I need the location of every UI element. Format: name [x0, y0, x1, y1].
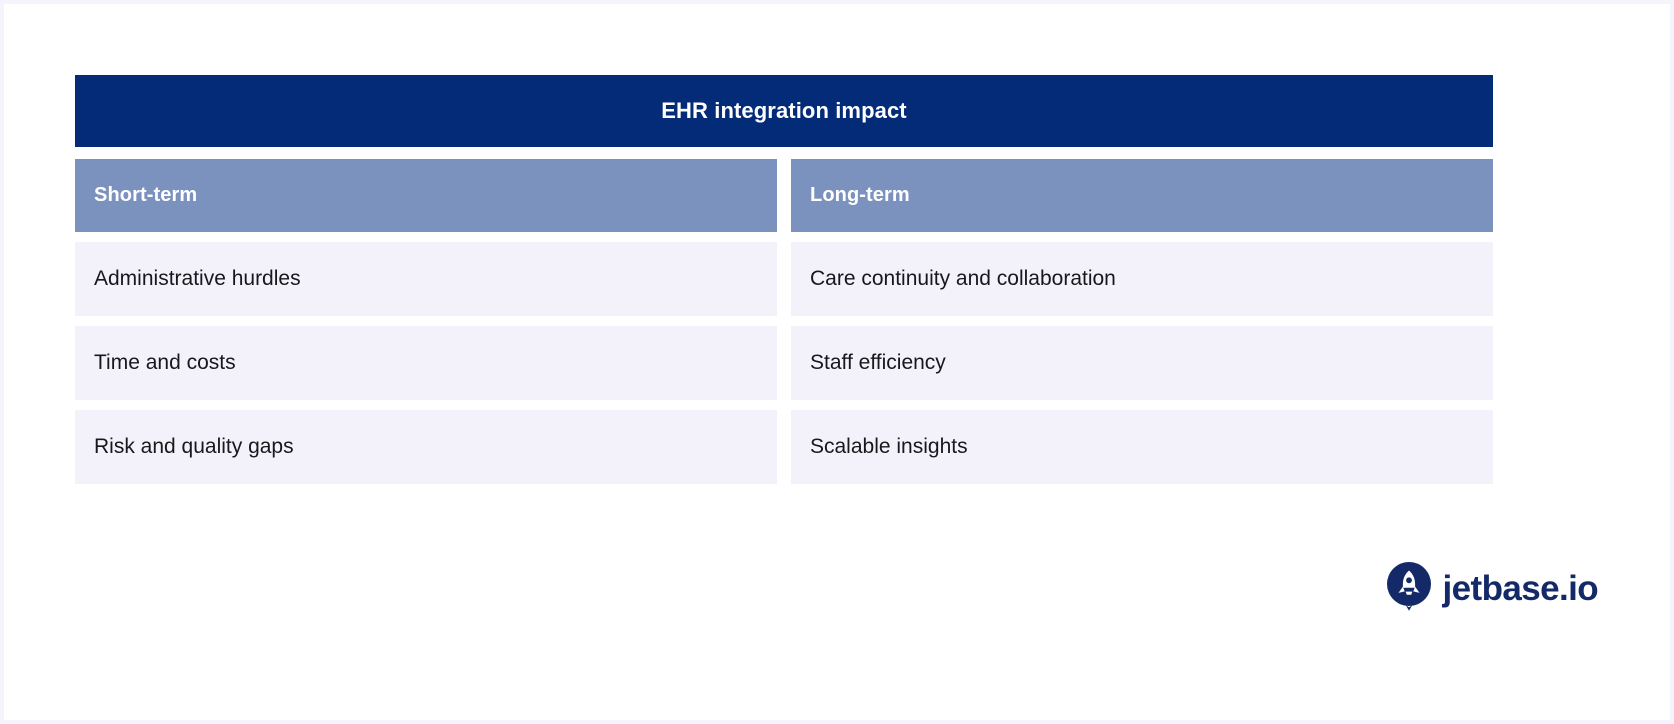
rocket-icon	[1386, 562, 1432, 614]
table-row: Time and costs	[75, 326, 777, 400]
cell-label: Scalable insights	[810, 435, 968, 459]
table-row: Risk and quality gaps	[75, 410, 777, 484]
table-title: EHR integration impact	[661, 98, 906, 124]
cell-label: Time and costs	[94, 351, 236, 375]
cell-label: Care continuity and collaboration	[810, 267, 1116, 291]
cell-label: Risk and quality gaps	[94, 435, 294, 459]
page-canvas: EHR integration impact Short-term Admini…	[4, 4, 1670, 720]
column-header-label: Short-term	[94, 184, 197, 207]
column-header-long-term: Long-term	[791, 159, 1493, 232]
brand-logo: jetbase.io	[1386, 562, 1598, 614]
column-long-term: Long-term Care continuity and collaborat…	[791, 159, 1493, 484]
table-columns: Short-term Administrative hurdles Time a…	[75, 159, 1493, 484]
cell-label: Administrative hurdles	[94, 267, 301, 291]
column-header-short-term: Short-term	[75, 159, 777, 232]
table-row: Care continuity and collaboration	[791, 242, 1493, 316]
cell-label: Staff efficiency	[810, 351, 946, 375]
table-row: Scalable insights	[791, 410, 1493, 484]
table-row: Staff efficiency	[791, 326, 1493, 400]
table-row: Administrative hurdles	[75, 242, 777, 316]
table-title-bar: EHR integration impact	[75, 75, 1493, 147]
column-header-label: Long-term	[810, 184, 910, 207]
brand-wordmark: jetbase.io	[1443, 571, 1598, 606]
column-short-term: Short-term Administrative hurdles Time a…	[75, 159, 777, 484]
comparison-table: EHR integration impact Short-term Admini…	[75, 75, 1493, 481]
